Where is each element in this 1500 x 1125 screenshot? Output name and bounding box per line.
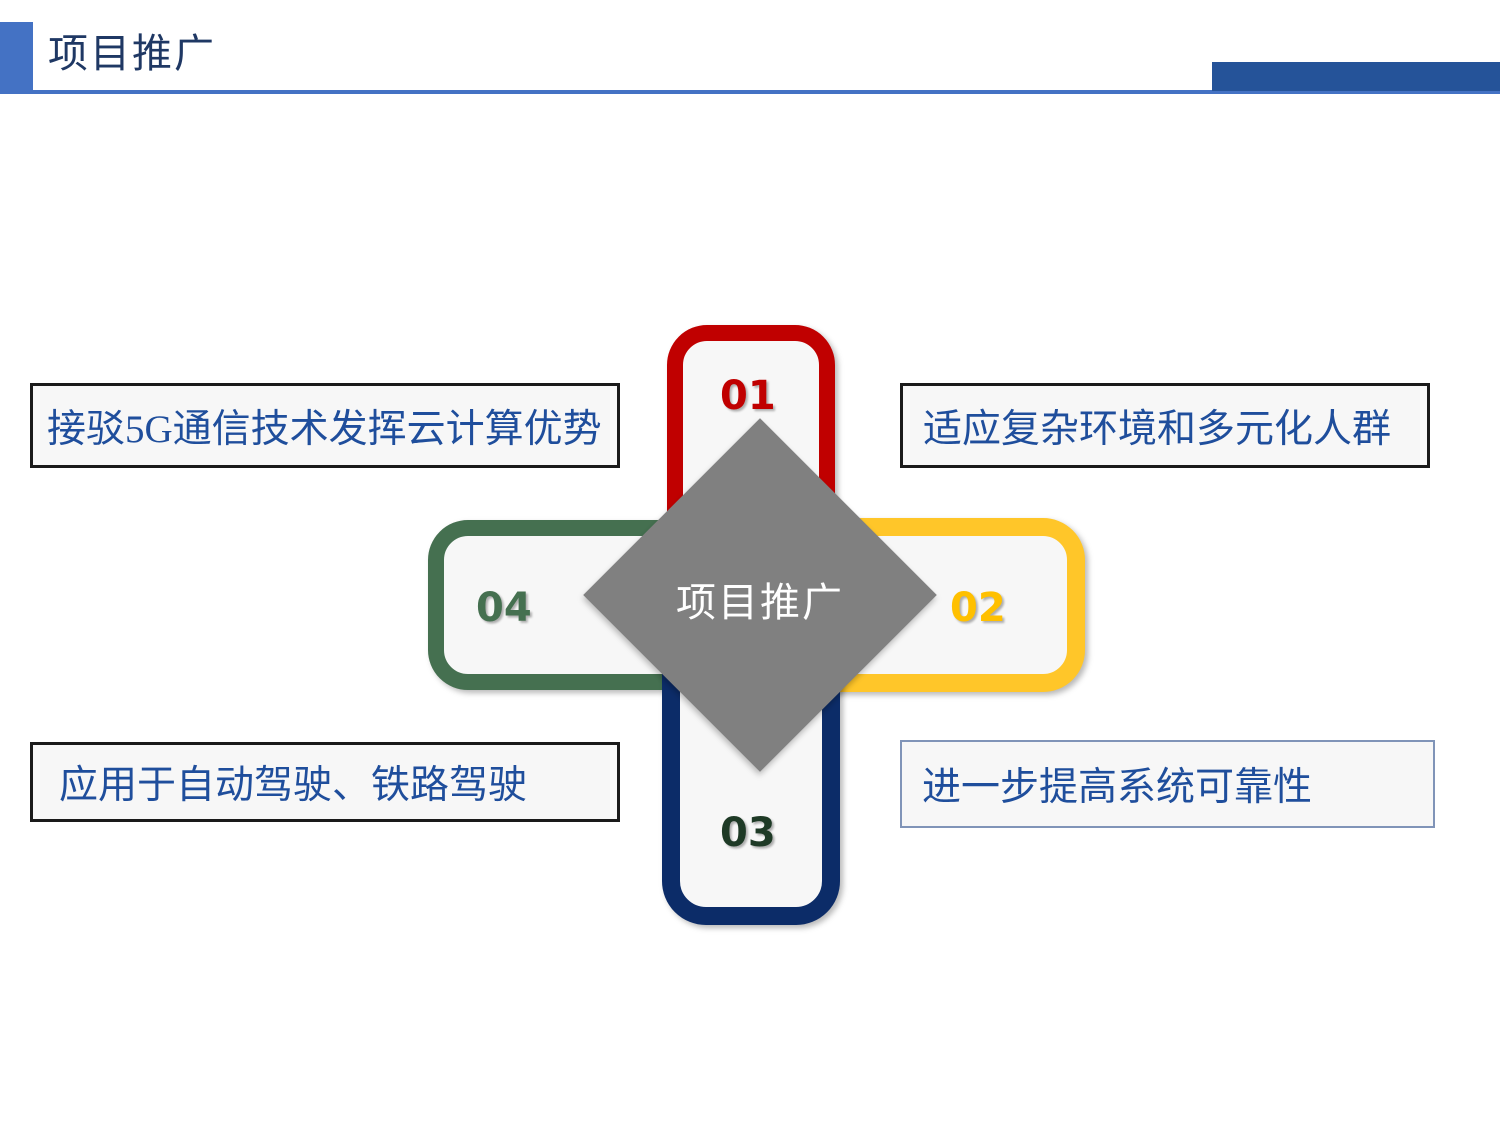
caption-box-bottom-right[interactable]: 进一步提高系统可靠性 [900,740,1435,828]
caption-text-bottom-right: 进一步提高系统可靠性 [902,756,1312,812]
cross-diagram: 接驳5G通信技术发挥云计算优势 适应复杂环境和多元化人群 应用于自动驾驶、铁路驾… [0,0,1500,1125]
arm-number-01: 01 [720,373,776,419]
caption-box-top-right[interactable]: 适应复杂环境和多元化人群 [900,383,1430,468]
arm-number-04: 04 [476,585,532,631]
arm-number-02: 02 [950,585,1006,631]
caption-box-top-left[interactable]: 接驳5G通信技术发挥云计算优势 [30,383,620,468]
caption-text-top-right: 适应复杂环境和多元化人群 [903,398,1391,454]
caption-text-top-left: 接驳5G通信技术发挥云计算优势 [33,398,602,454]
arm-number-03: 03 [720,810,776,856]
caption-box-bottom-left[interactable]: 应用于自动驾驶、铁路驾驶 [30,742,620,822]
caption-text-bottom-left: 应用于自动驾驶、铁路驾驶 [33,754,527,810]
center-diamond-label: 项目推广 [610,570,910,628]
